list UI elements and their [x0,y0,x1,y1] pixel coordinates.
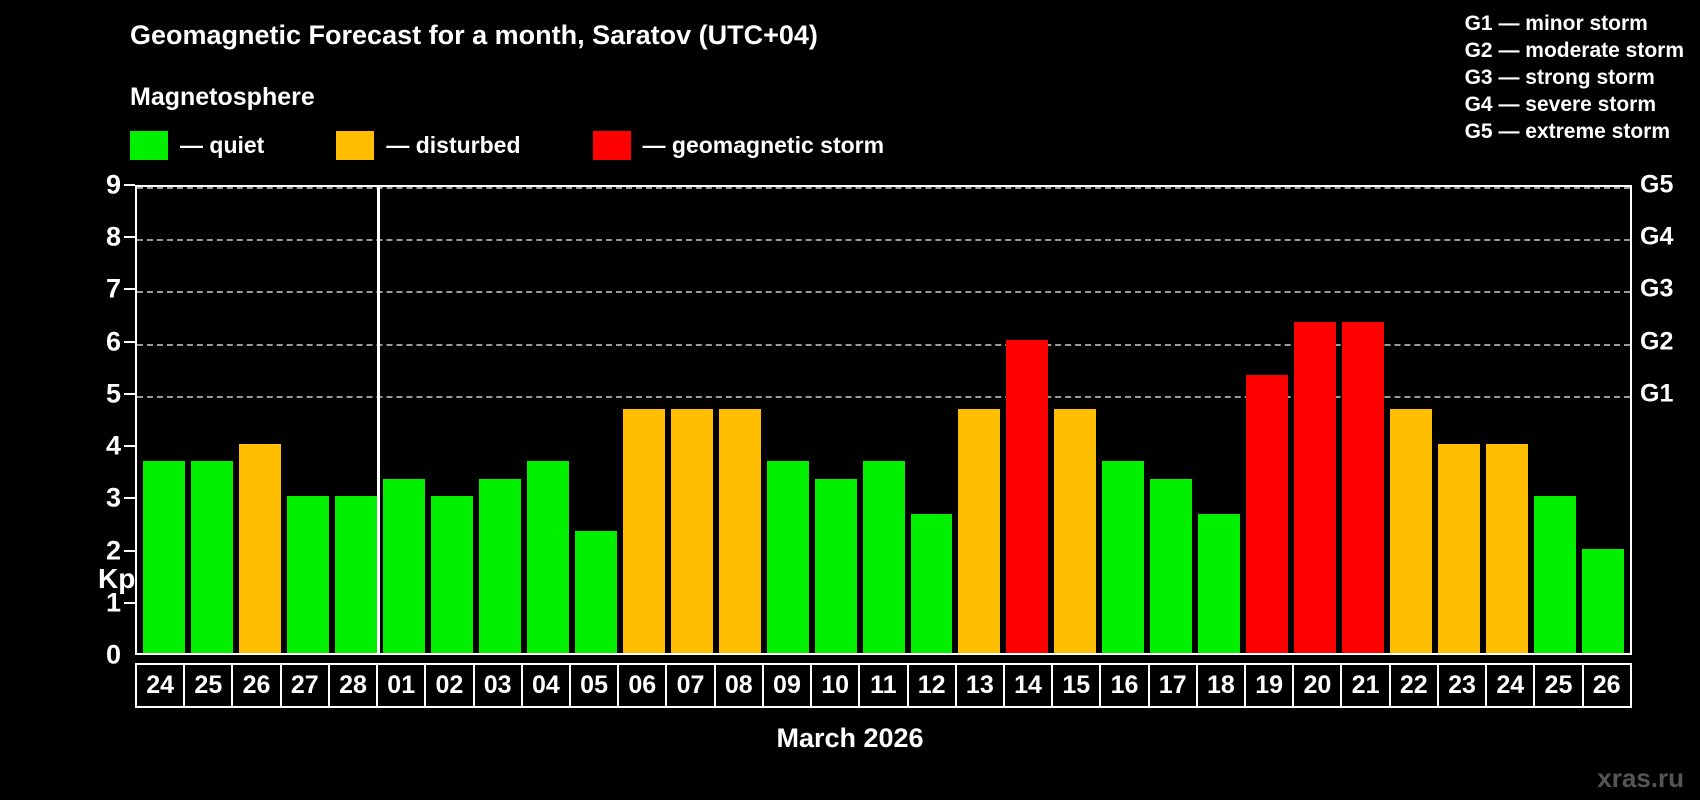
bar-22-disturbed [1390,409,1432,653]
date-cell-10: 06 [619,665,667,706]
date-cell-29: 25 [1535,665,1583,706]
bar-01-quiet [383,479,425,653]
legend-item-disturbed: — disturbed [336,129,520,161]
page-title: Geomagnetic Forecast for a month, Sarato… [130,20,818,51]
bar-27-quiet [287,496,329,653]
g-scale-row-4: G4 — severe storm [1465,91,1684,118]
bar-21-storm [1342,322,1384,653]
bar-13-disturbed [958,409,1000,653]
date-cell-13: 09 [764,665,812,706]
date-cell-4: 28 [330,665,378,706]
date-cell-7: 03 [475,665,523,706]
date-cell-24: 20 [1294,665,1342,706]
legend-label-quiet: — quiet [180,132,264,159]
legend-swatch-disturbed-icon [336,131,374,160]
y-tick-label-3: 3 [106,483,121,514]
bar-11-quiet [863,461,905,653]
y-tick-label-7: 7 [106,274,121,305]
date-cell-21: 17 [1150,665,1198,706]
bar-slot [236,187,284,653]
watermark: xras.ru [1597,763,1684,794]
g-scale-row-1: G1 — minor storm [1465,10,1684,37]
bar-slot [1339,187,1387,653]
date-cell-22: 18 [1198,665,1246,706]
date-cell-9: 05 [571,665,619,706]
date-cell-16: 12 [909,665,957,706]
y-tick-mark-5 [124,393,135,395]
bar-17-quiet [1150,479,1192,653]
bar-24-quiet [143,461,185,653]
plot-area [135,185,1632,655]
bar-24-disturbed [1486,444,1528,653]
y-tick-label-9: 9 [106,170,121,201]
bar-06-disturbed [623,409,665,653]
bar-14-storm [1006,340,1048,653]
bar-18-quiet [1198,514,1240,653]
bar-slot [1483,187,1531,653]
bar-23-disturbed [1438,444,1480,653]
date-cell-12: 08 [716,665,764,706]
date-cell-1: 25 [185,665,233,706]
bar-25-quiet [1534,496,1576,653]
g-axis-tick-G1: G1 [1640,379,1673,408]
y-tick-label-5: 5 [106,378,121,409]
date-cell-26: 22 [1391,665,1439,706]
y-axis: Kp 9876543210 [60,185,135,655]
g-scale-row-3: G3 — strong storm [1465,64,1684,91]
bars [137,187,1630,653]
date-cell-27: 23 [1439,665,1487,706]
bar-08-disturbed [719,409,761,653]
y-tick-label-0: 0 [106,640,121,671]
date-cell-15: 11 [860,665,908,706]
bar-slot [188,187,236,653]
bar-04-quiet [527,461,569,653]
bar-20-storm [1294,322,1336,653]
g-scale-row-2: G2 — moderate storm [1465,37,1684,64]
legend: — quiet— disturbed— geomagnetic storm [130,129,884,161]
bar-slot [1435,187,1483,653]
date-cell-5: 01 [378,665,426,706]
bar-slot [380,187,428,653]
y-tick-label-1: 1 [106,587,121,618]
month-label: March 2026 [0,723,1700,754]
date-cell-30: 26 [1584,665,1630,706]
g-axis-tick-G2: G2 [1640,327,1673,356]
y-tick-mark-1 [124,602,135,604]
date-axis: 2425262728010203040506070809101112131415… [135,663,1632,708]
date-cell-0: 24 [137,665,185,706]
date-cell-11: 07 [667,665,715,706]
bar-slot [1195,187,1243,653]
bar-slot [524,187,572,653]
date-cell-23: 19 [1246,665,1294,706]
y-tick-label-2: 2 [106,535,121,566]
y-tick-mark-4 [124,445,135,447]
y-tick-label-6: 6 [106,326,121,357]
date-cell-18: 14 [1005,665,1053,706]
date-cell-20: 16 [1101,665,1149,706]
bar-slot [860,187,908,653]
bar-25-quiet [191,461,233,653]
bar-slot [1387,187,1435,653]
legend-swatch-storm-icon [593,131,631,160]
bar-slot [812,187,860,653]
bar-slot [1579,187,1627,653]
bar-slot [572,187,620,653]
bar-07-disturbed [671,409,713,653]
bar-slot [716,187,764,653]
bar-12-quiet [911,514,953,653]
bar-03-quiet [479,479,521,653]
g-axis-tick-G5: G5 [1640,171,1673,200]
g-axis-tick-G4: G4 [1640,223,1673,252]
date-cell-6: 02 [426,665,474,706]
date-cell-19: 15 [1053,665,1101,706]
bar-15-disturbed [1054,409,1096,653]
bar-slot [955,187,1003,653]
bar-slot [428,187,476,653]
bar-26-disturbed [239,444,281,653]
y-tick-mark-6 [124,341,135,343]
date-cell-25: 21 [1342,665,1390,706]
y-tick-mark-3 [124,497,135,499]
legend-item-quiet: — quiet [130,129,264,161]
y-tick-label-4: 4 [106,431,121,462]
bar-05-quiet [575,531,617,653]
y-tick-mark-8 [124,236,135,238]
bar-09-quiet [767,461,809,653]
y-tick-label-8: 8 [106,222,121,253]
bar-26-quiet [1582,549,1624,653]
g-scale-legend: G1 — minor stormG2 — moderate stormG3 — … [1465,10,1684,145]
legend-label-storm: — geomagnetic storm [643,132,885,159]
legend-swatch-quiet-icon [130,131,168,160]
y-tick-mark-7 [124,288,135,290]
legend-item-storm: — geomagnetic storm [593,129,885,161]
y-tick-mark-2 [124,550,135,552]
date-cell-28: 24 [1487,665,1535,706]
bar-slot [284,187,332,653]
bar-slot [332,187,380,653]
bar-slot [1243,187,1291,653]
bar-28-quiet [335,496,377,653]
legend-heading: Magnetosphere [130,83,315,112]
bar-16-quiet [1102,461,1144,653]
bar-slot [620,187,668,653]
date-cell-14: 10 [812,665,860,706]
bar-slot [476,187,524,653]
bar-slot [668,187,716,653]
g-axis: G5G4G3G2G1 [1640,185,1700,655]
bar-slot [764,187,812,653]
g-scale-row-5: G5 — extreme storm [1465,118,1684,145]
bar-slot [908,187,956,653]
date-cell-8: 04 [523,665,571,706]
bar-slot [1531,187,1579,653]
legend-label-disturbed: — disturbed [386,132,520,159]
bar-slot [1099,187,1147,653]
bar-slot [140,187,188,653]
bar-10-quiet [815,479,857,653]
date-cell-17: 13 [957,665,1005,706]
bar-02-quiet [431,496,473,653]
bar-slot [1291,187,1339,653]
bar-slot [1003,187,1051,653]
g-axis-tick-G3: G3 [1640,275,1673,304]
bar-slot [1051,187,1099,653]
date-cell-3: 27 [282,665,330,706]
bar-slot [1147,187,1195,653]
y-tick-mark-9 [124,184,135,186]
bar-19-storm [1246,375,1288,653]
date-cell-2: 26 [233,665,281,706]
